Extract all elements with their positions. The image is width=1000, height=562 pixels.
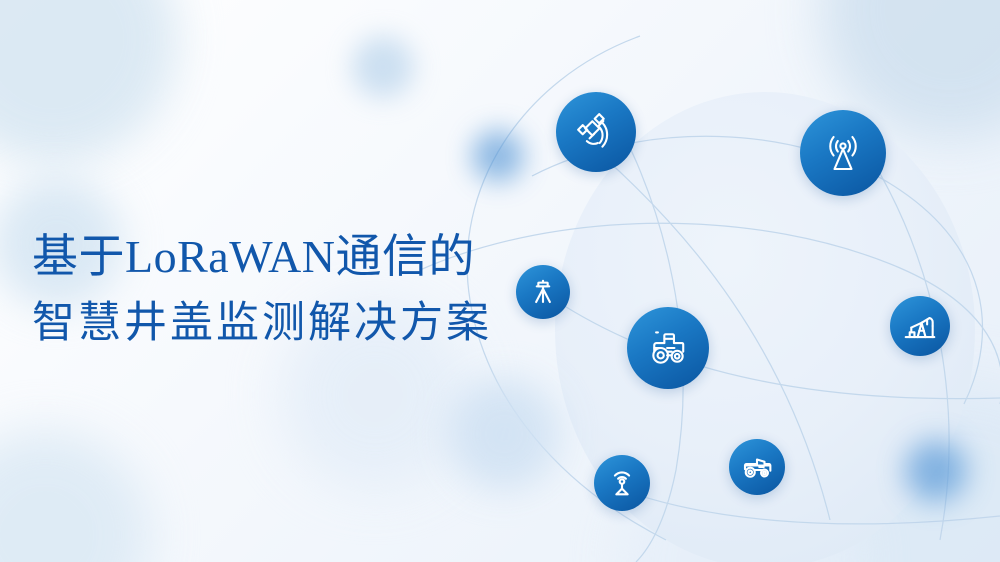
node-radio-tower[interactable] <box>800 110 886 196</box>
node-tractor[interactable] <box>627 307 709 389</box>
node-oil-pumpjack[interactable] <box>890 296 950 356</box>
wireless-sensor-icon <box>605 466 639 500</box>
satellite-signal-icon <box>574 110 618 154</box>
node-wireless-sensor[interactable] <box>594 455 650 511</box>
title-slide: 基于LoRaWAN通信的 智慧井盖监测解决方案 <box>0 0 1000 562</box>
page-title-line-1: 基于LoRaWAN通信的 <box>32 226 572 288</box>
title-block: 基于LoRaWAN通信的 智慧井盖监测解决方案 <box>32 226 572 358</box>
harvester-icon <box>739 449 775 485</box>
node-harvester[interactable] <box>729 439 785 495</box>
radio-tower-icon <box>819 129 867 177</box>
node-satellite[interactable] <box>556 92 636 172</box>
oil-pumpjack-icon <box>901 307 939 345</box>
tractor-icon <box>646 326 690 370</box>
page-title-line-2: 智慧井盖监测解决方案 <box>32 288 572 358</box>
